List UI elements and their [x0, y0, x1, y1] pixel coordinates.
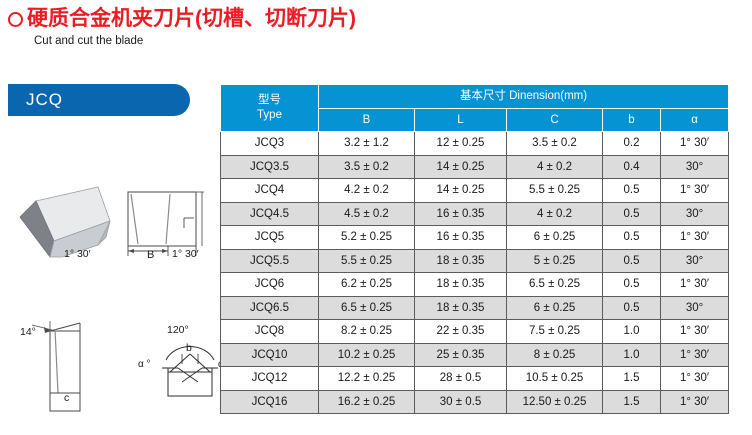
table-row: JCQ55.2 ± 0.2516 ± 0.356 ± 0.250.51° 30′ — [221, 226, 729, 250]
cell-b: 3.5 ± 0.2 — [319, 155, 415, 179]
cell-alpha: 1° 30′ — [661, 226, 729, 250]
cell-alpha: 1° 30′ — [661, 179, 729, 203]
column-header-type-en: Type — [221, 108, 318, 123]
cell-l: 14 ± 0.25 — [415, 179, 507, 203]
cell-small-b: 0.4 — [603, 155, 661, 179]
cell-b: 6.5 ± 0.25 — [319, 296, 415, 320]
cell-c: 6.5 ± 0.25 — [507, 273, 603, 297]
column-group-header-dimension: 基本尺寸 Dinension(mm) — [319, 85, 729, 109]
page-header: 硬质合金机夹刀片(切槽、切断刀片) Cut and cut the blade — [8, 6, 356, 48]
cell-type: JCQ8 — [221, 320, 319, 344]
table-row: JCQ4.54.5 ± 0.216 ± 0.354 ± 0.20.530° — [221, 202, 729, 226]
isometric-insert-diagram — [6, 185, 116, 267]
cell-type: JCQ10 — [221, 343, 319, 367]
cell-b: 5.5 ± 0.25 — [319, 249, 415, 273]
front-view-dim-b: B — [147, 249, 154, 261]
cell-alpha: 30° — [661, 202, 729, 226]
cell-b: 16.2 ± 0.25 — [319, 390, 415, 414]
cell-b: 8.2 ± 0.25 — [319, 320, 415, 344]
cell-small-b: 0.5 — [603, 226, 661, 250]
cell-l: 16 ± 0.35 — [415, 202, 507, 226]
cell-small-b: 1.5 — [603, 390, 661, 414]
table-row: JCQ44.2 ± 0.214 ± 0.255.5 ± 0.250.51° 30… — [221, 179, 729, 203]
table-row: JCQ1010.2 ± 0.2525 ± 0.358 ± 0.251.01° 3… — [221, 343, 729, 367]
cell-c: 10.5 ± 0.25 — [507, 367, 603, 391]
cell-type: JCQ5.5 — [221, 249, 319, 273]
table-row: JCQ5.55.5 ± 0.2518 ± 0.355 ± 0.250.530° — [221, 249, 729, 273]
table-row: JCQ66.2 ± 0.2518 ± 0.356.5 ± 0.250.51° 3… — [221, 273, 729, 297]
v-notch-dim-b: b — [186, 342, 192, 354]
cell-type: JCQ12 — [221, 367, 319, 391]
cell-b: 5.2 ± 0.25 — [319, 226, 415, 250]
cell-c: 4 ± 0.2 — [507, 155, 603, 179]
cell-type: JCQ6.5 — [221, 296, 319, 320]
cell-small-b: 1.5 — [603, 367, 661, 391]
cell-b: 3.2 ± 1.2 — [319, 132, 415, 156]
cell-c: 7.5 ± 0.25 — [507, 320, 603, 344]
cell-c: 6 ± 0.25 — [507, 226, 603, 250]
cell-alpha: 1° 30′ — [661, 273, 729, 297]
cell-alpha: 1° 30′ — [661, 367, 729, 391]
cell-c: 3.5 ± 0.2 — [507, 132, 603, 156]
cell-l: 28 ± 0.5 — [415, 367, 507, 391]
cell-alpha: 30° — [661, 249, 729, 273]
cell-b: 10.2 ± 0.25 — [319, 343, 415, 367]
cell-small-b: 0.5 — [603, 296, 661, 320]
cell-type: JCQ4.5 — [221, 202, 319, 226]
series-badge: JCQ — [8, 84, 190, 116]
cell-small-b: 0.2 — [603, 132, 661, 156]
table-header: 型号 Type 基本尺寸 Dinension(mm) B L C b α — [221, 85, 729, 132]
cell-small-b: 0.5 — [603, 179, 661, 203]
table-row: JCQ33.2 ± 1.212 ± 0.253.5 ± 0.20.21° 30′ — [221, 132, 729, 156]
table-row: JCQ1212.2 ± 0.2528 ± 0.510.5 ± 0.251.51°… — [221, 367, 729, 391]
product-spec-sheet: 硬质合金机夹刀片(切槽、切断刀片) Cut and cut the blade … — [0, 0, 752, 435]
cell-type: JCQ5 — [221, 226, 319, 250]
cell-c: 6 ± 0.25 — [507, 296, 603, 320]
cell-l: 22 ± 0.35 — [415, 320, 507, 344]
cell-small-b: 0.5 — [603, 202, 661, 226]
cell-l: 12 ± 0.25 — [415, 132, 507, 156]
cell-small-b: 0.5 — [603, 249, 661, 273]
column-header-alpha: α — [661, 108, 729, 132]
table-body: JCQ33.2 ± 1.212 ± 0.253.5 ± 0.20.21° 30′… — [221, 132, 729, 414]
table-row: JCQ88.2 ± 0.2522 ± 0.357.5 ± 0.251.01° 3… — [221, 320, 729, 344]
table-row: JCQ1616.2 ± 0.2530 ± 0.512.50 ± 0.251.51… — [221, 390, 729, 414]
cell-c: 5 ± 0.25 — [507, 249, 603, 273]
cell-small-b: 1.0 — [603, 343, 661, 367]
cell-c: 4 ± 0.2 — [507, 202, 603, 226]
column-header-l: L — [415, 108, 507, 132]
cell-l: 18 ± 0.35 — [415, 249, 507, 273]
column-header-type: 型号 Type — [221, 85, 319, 132]
side-view-dim-c: c — [64, 392, 69, 404]
v-notch-arc-angle: 120° — [167, 324, 189, 336]
cell-l: 18 ± 0.35 — [415, 296, 507, 320]
table-row: JCQ3.53.5 ± 0.214 ± 0.254 ± 0.20.430° — [221, 155, 729, 179]
column-header-c: C — [507, 108, 603, 132]
series-badge-label: JCQ — [26, 90, 63, 110]
circle-outline-icon — [8, 12, 23, 27]
page-title-text: 硬质合金机夹刀片(切槽、切断刀片) — [27, 6, 356, 32]
cell-c: 12.50 ± 0.25 — [507, 390, 603, 414]
cell-alpha: 30° — [661, 155, 729, 179]
cell-alpha: 1° 30′ — [661, 320, 729, 344]
cell-l: 16 ± 0.35 — [415, 226, 507, 250]
column-header-b: B — [319, 108, 415, 132]
front-view-angle-left: 1° 30′ — [64, 248, 91, 260]
v-notch-alpha-left: α ° — [138, 359, 151, 370]
cell-l: 18 ± 0.35 — [415, 273, 507, 297]
cell-c: 8 ± 0.25 — [507, 343, 603, 367]
cell-type: JCQ4 — [221, 179, 319, 203]
cell-alpha: 1° 30′ — [661, 132, 729, 156]
cell-type: JCQ16 — [221, 390, 319, 414]
cell-b: 12.2 ± 0.25 — [319, 367, 415, 391]
page-title: 硬质合金机夹刀片(切槽、切断刀片) — [8, 6, 356, 32]
front-view-angle-right: 1° 30′ — [172, 248, 199, 260]
cell-alpha: 1° 30′ — [661, 390, 729, 414]
cell-alpha: 30° — [661, 296, 729, 320]
cell-type: JCQ6 — [221, 273, 319, 297]
cell-b: 4.5 ± 0.2 — [319, 202, 415, 226]
cell-small-b: 1.0 — [603, 320, 661, 344]
specification-table: 型号 Type 基本尺寸 Dinension(mm) B L C b α JCQ… — [220, 84, 729, 414]
cell-l: 25 ± 0.35 — [415, 343, 507, 367]
cell-type: JCQ3.5 — [221, 155, 319, 179]
cell-l: 14 ± 0.25 — [415, 155, 507, 179]
cell-l: 30 ± 0.5 — [415, 390, 507, 414]
column-header-type-cn: 型号 — [221, 93, 318, 108]
column-header-small-b: b — [603, 108, 661, 132]
cell-b: 6.2 ± 0.25 — [319, 273, 415, 297]
cell-small-b: 0.5 — [603, 273, 661, 297]
cell-alpha: 1° 30′ — [661, 343, 729, 367]
page-subtitle: Cut and cut the blade — [34, 34, 356, 48]
cell-type: JCQ3 — [221, 132, 319, 156]
cell-b: 4.2 ± 0.2 — [319, 179, 415, 203]
side-view-angle: 14° — [20, 326, 36, 338]
cell-c: 5.5 ± 0.25 — [507, 179, 603, 203]
table-row: JCQ6.56.5 ± 0.2518 ± 0.356 ± 0.250.530° — [221, 296, 729, 320]
